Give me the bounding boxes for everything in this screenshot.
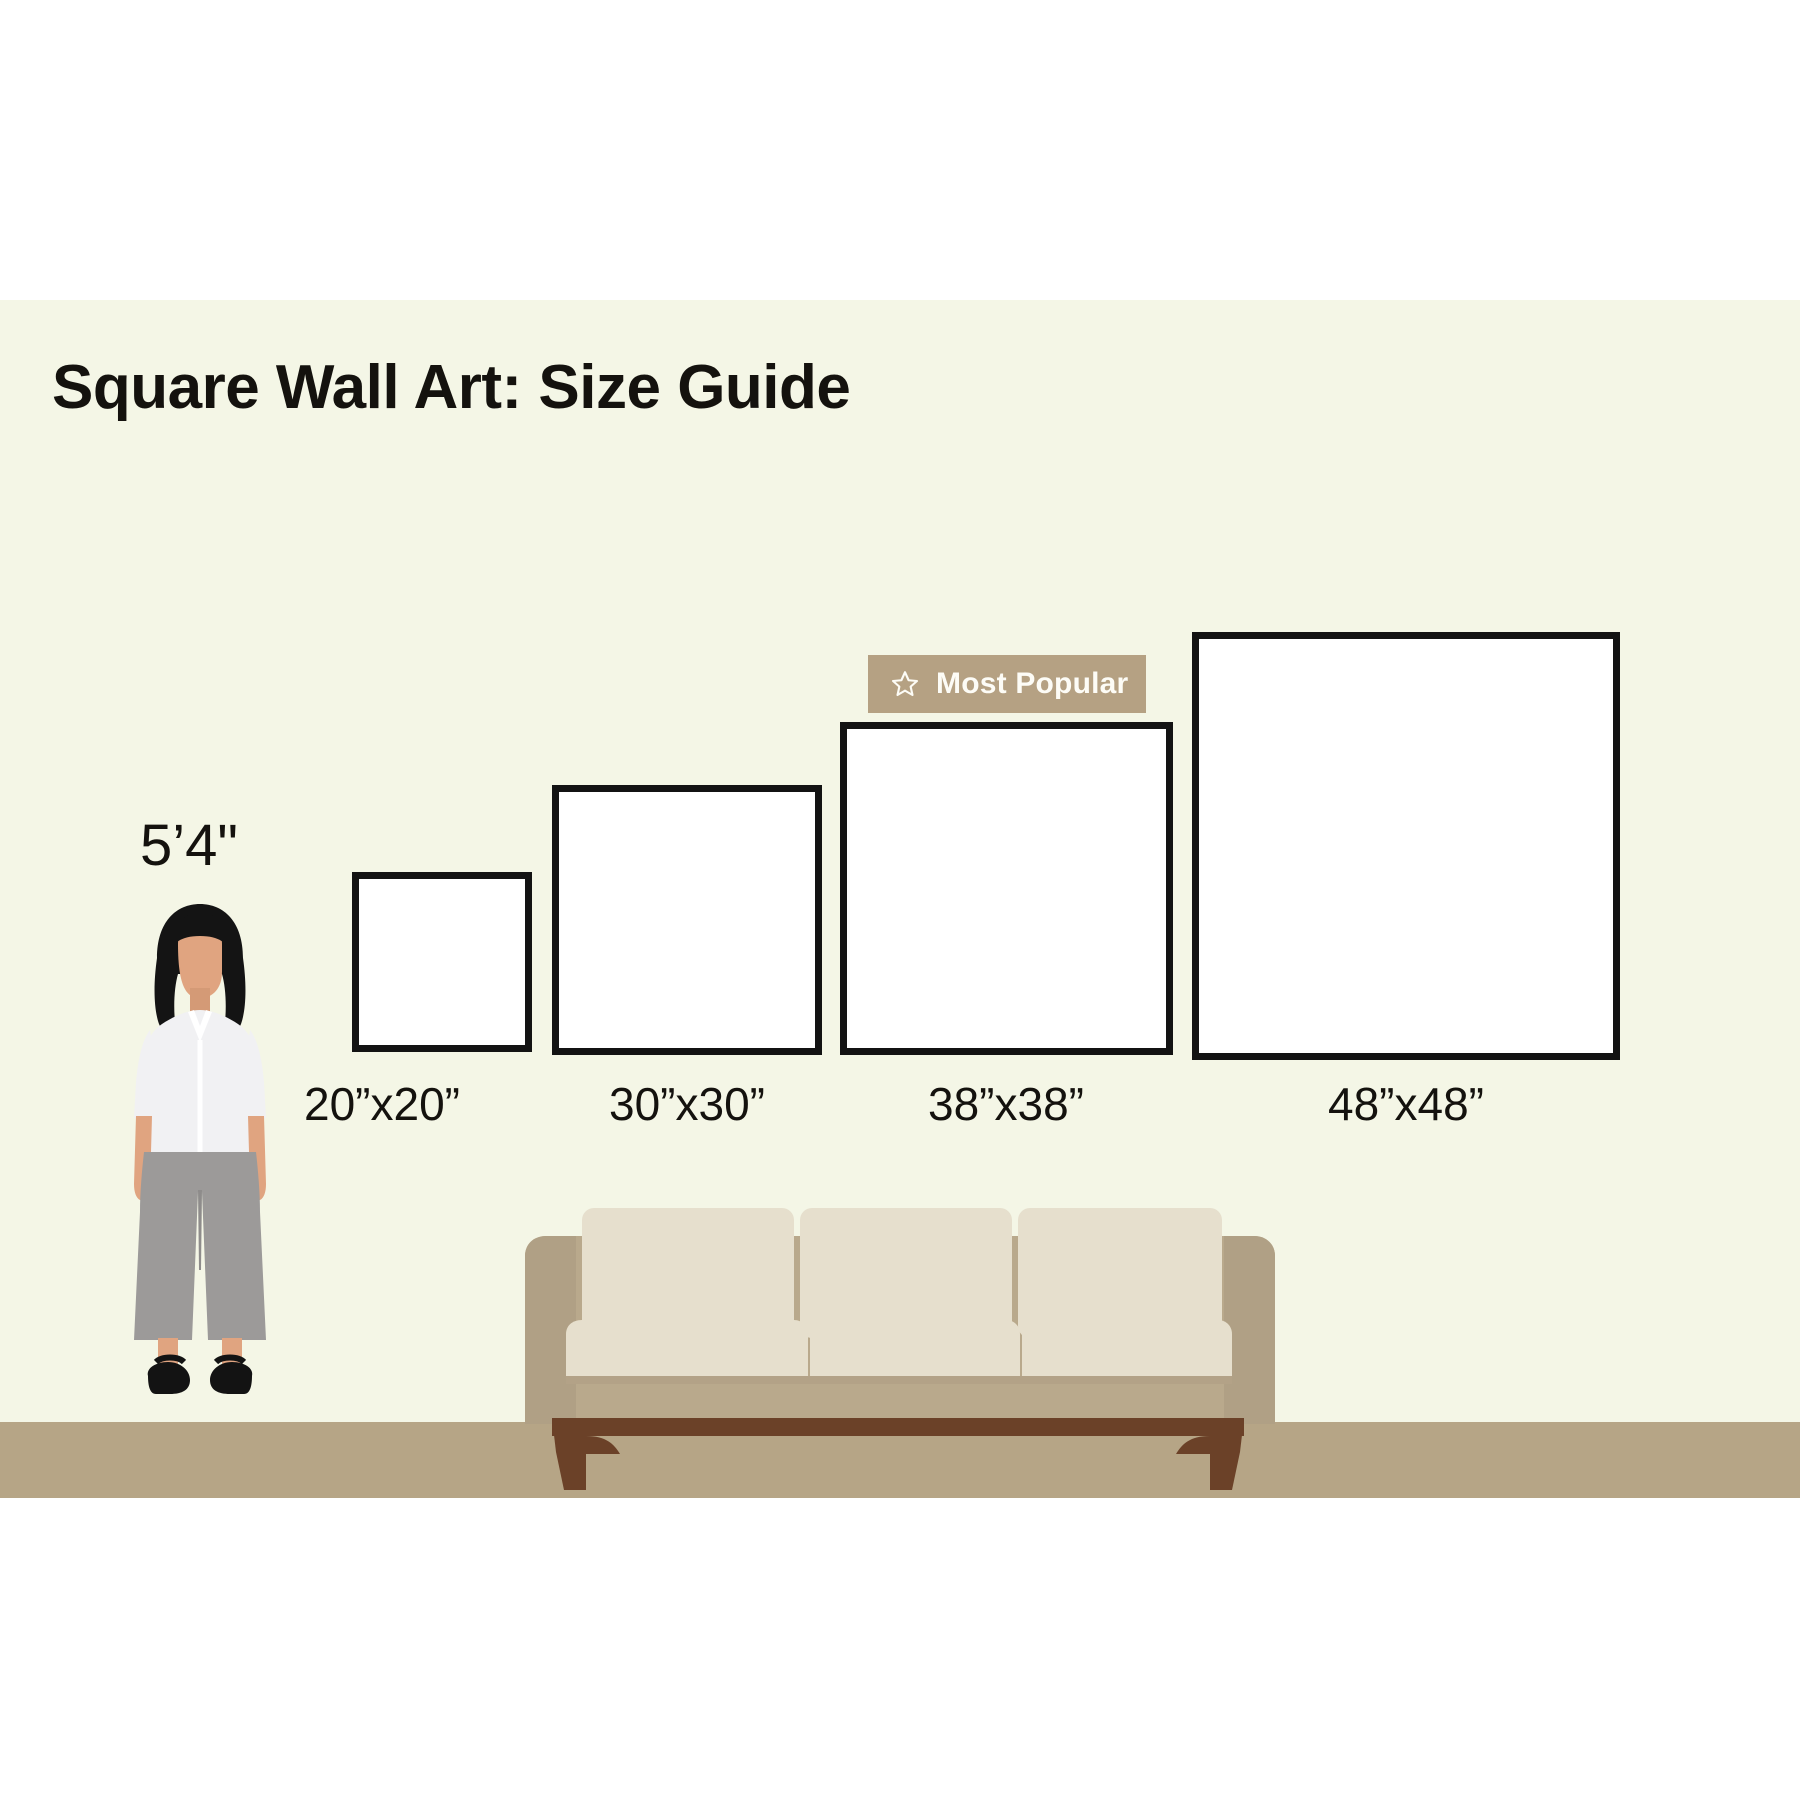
- art-frame-label-38: 38”x38”: [928, 1077, 1084, 1131]
- pants-seam-icon: [198, 1190, 202, 1270]
- left-shoe-icon: [148, 1362, 190, 1394]
- sofa-back-cushion-right: [1018, 1208, 1222, 1338]
- sofa-seat-cushion-left: [566, 1320, 808, 1376]
- art-frame-label-20: 20”x20”: [304, 1077, 460, 1131]
- art-frame-30[interactable]: [552, 785, 822, 1055]
- sofa-back-cushion-left: [582, 1208, 794, 1338]
- art-frame-label-48: 48”x48”: [1328, 1077, 1484, 1131]
- sofa-seat-cushion-right: [1022, 1320, 1232, 1376]
- blouse-placket-icon: [198, 1040, 203, 1158]
- three-seat-sofa: [510, 1200, 1290, 1500]
- sofa-seat-shadow: [566, 1376, 1232, 1384]
- art-frame-label-30: 30”x30”: [609, 1077, 765, 1131]
- art-frame-38[interactable]: [840, 722, 1173, 1055]
- sofa-leg-right-icon: [1210, 1418, 1244, 1490]
- size-guide-illustration: Square Wall Art: Size Guide 5’4": [0, 0, 1800, 1800]
- star-outline-icon: [890, 669, 920, 699]
- sofa-leg-left-bracket-icon: [586, 1436, 620, 1454]
- sofa-back-cushion-center: [800, 1208, 1012, 1338]
- art-frame-20[interactable]: [352, 872, 532, 1052]
- art-frame-48[interactable]: [1192, 632, 1620, 1060]
- sofa-seat-cushion-center: [810, 1320, 1020, 1376]
- most-popular-badge-label: Most Popular: [936, 667, 1128, 701]
- right-shoe-icon: [210, 1362, 252, 1394]
- page-title: Square Wall Art: Size Guide: [52, 352, 850, 423]
- sofa-leg-right-bracket-icon: [1176, 1436, 1210, 1454]
- sofa-rail-icon: [552, 1418, 1244, 1436]
- sofa-right-arm-icon: [1224, 1236, 1275, 1424]
- most-popular-badge[interactable]: Most Popular: [868, 655, 1146, 713]
- standing-woman-figure: [100, 900, 300, 1430]
- sofa-leg-left-icon: [552, 1418, 586, 1490]
- person-height-label: 5’4": [140, 812, 238, 879]
